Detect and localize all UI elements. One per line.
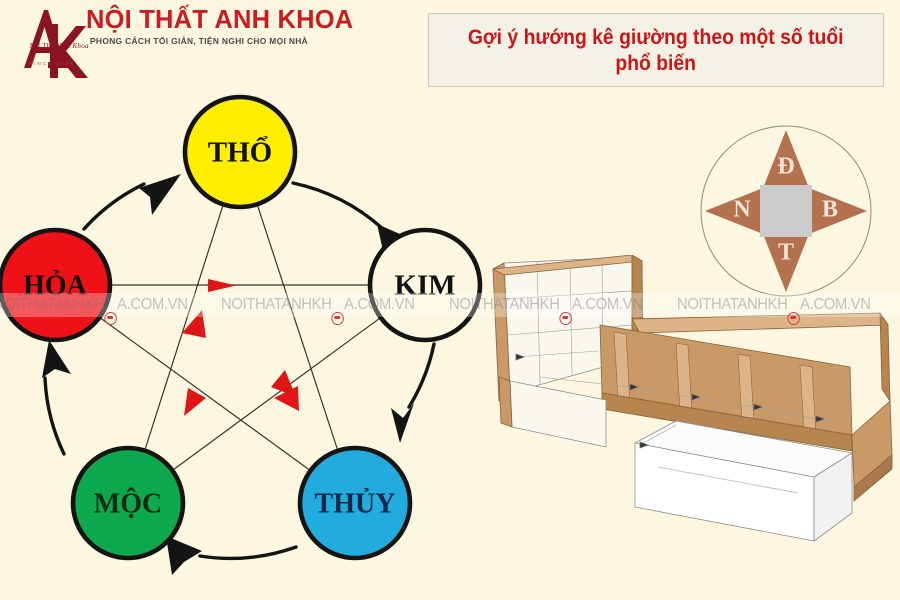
- arrowhead-into-hoa: [42, 340, 71, 378]
- node-moc[interactable]: MỘC: [73, 448, 183, 558]
- title-box: Gợi ý hướng kê giường theo một số tuổi p…: [428, 13, 884, 87]
- compass-label-nam: N: [733, 197, 751, 223]
- page-title: Gợi ý hướng kê giường theo một số tuổi p…: [459, 24, 853, 76]
- compass-label-bac: B: [822, 197, 838, 223]
- node-tho-label: THỔ: [208, 135, 272, 169]
- arrow-hoa-kim: [208, 279, 236, 292]
- logo-since-text: SINCE 2008: [16, 61, 88, 66]
- node-thuy-label: THỦY: [315, 488, 396, 519]
- node-kim[interactable]: KIM: [370, 230, 480, 340]
- node-hoa[interactable]: HỎA: [0, 230, 110, 340]
- near-rail-left-panel: [510, 381, 606, 447]
- arc-kim-thuy: [409, 344, 434, 407]
- arc-hoa-tho: [84, 184, 144, 229]
- arc-thuy-moc: [200, 547, 296, 558]
- node-hoa-label: HỎA: [23, 270, 88, 301]
- arc-moc-hoa: [45, 378, 64, 454]
- brand-tagline: PHONG CÁCH TỐI GIẢN, TIỆN NGHI CHO MỌI N…: [90, 36, 308, 46]
- far-corner-post: [880, 313, 890, 401]
- page-title-line-2: phổ biến: [616, 51, 697, 75]
- page-root: Nội Thất Anh Khoa SINCE 2008 NỘI THẤT AN…: [0, 0, 900, 600]
- far-side-rail-top: [632, 313, 888, 333]
- overcoming-cycle-arrowheads: [182, 279, 299, 416]
- node-moc-label: MỘC: [94, 488, 162, 519]
- node-thuy[interactable]: THỦY: [300, 448, 410, 558]
- page-title-line-1: Gợi ý hướng kê giường theo một số tuổi: [468, 25, 844, 49]
- arrowhead-into-moc: [166, 536, 202, 575]
- five-elements-diagram: THỔ KIM THỦY MỘC HỎA: [0, 88, 500, 600]
- brand-name: NỘI THẤT ANH KHOA: [86, 6, 353, 35]
- compass-center-square: [760, 185, 812, 237]
- arc-tho-kim: [293, 183, 383, 229]
- bed-illustration: [480, 255, 900, 555]
- compass-label-dong: Đ: [777, 154, 794, 180]
- near-rail-left-post: [499, 377, 512, 427]
- arrowhead-into-thuy: [391, 403, 414, 443]
- node-kim-label: KIM: [394, 270, 455, 302]
- node-tho[interactable]: THỔ: [185, 97, 295, 207]
- arrowhead-into-tho: [139, 174, 181, 215]
